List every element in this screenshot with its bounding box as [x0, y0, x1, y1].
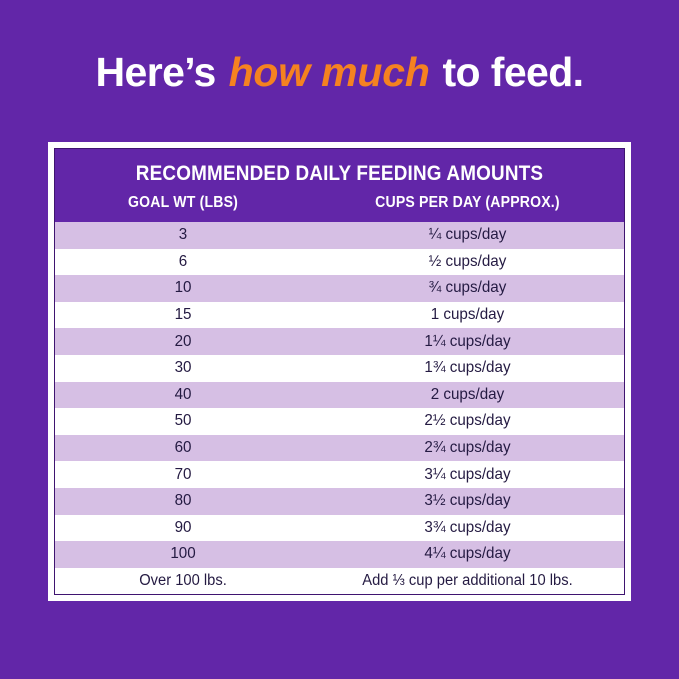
cell-goal-weight: 30 — [61, 358, 304, 378]
table-row: 70 3¼ cups/day — [55, 461, 624, 488]
table-row: 20 1¼ cups/day — [55, 328, 624, 355]
feeding-table: RECOMMENDED DAILY FEEDING AMOUNTS GOAL W… — [54, 148, 625, 595]
headline-part-one: Here’s — [96, 49, 227, 95]
cell-cups-per-day: 3¾ cups/day — [319, 518, 616, 538]
table-title: RECOMMENDED DAILY FEEDING AMOUNTS — [83, 161, 595, 187]
table-row: Over 100 lbs. Add ⅓ cup per additional 1… — [55, 568, 624, 595]
cell-goal-weight: 3 — [61, 225, 304, 245]
cell-goal-weight: 50 — [61, 411, 304, 431]
cell-goal-weight: 80 — [61, 491, 304, 511]
column-header-cups-per-day: CUPS PER DAY (APPROX.) — [330, 192, 605, 214]
cell-cups-per-day: 1¾ cups/day — [319, 358, 616, 378]
cell-goal-weight: 90 — [61, 518, 304, 538]
cell-goal-weight: 100 — [61, 544, 304, 564]
cell-cups-per-day: 4¼ cups/day — [319, 544, 616, 564]
cell-cups-per-day: 2 cups/day — [319, 385, 616, 405]
page-headline: Here’s how much to feed. — [0, 46, 679, 98]
table-row: 6 ½ cups/day — [55, 249, 624, 276]
cell-goal-weight: Over 100 lbs. — [61, 571, 304, 591]
column-headers: GOAL WT (LBS) CUPS PER DAY (APPROX.) — [55, 192, 624, 214]
cell-cups-per-day: Add ⅓ cup per additional 10 lbs. — [319, 571, 616, 591]
table-row: 60 2¾ cups/day — [55, 435, 624, 462]
cell-cups-per-day: ¾ cups/day — [319, 278, 616, 298]
column-header-goal-weight: GOAL WT (LBS) — [70, 192, 295, 214]
table-row: 15 1 cups/day — [55, 302, 624, 329]
cell-cups-per-day: ¼ cups/day — [319, 225, 616, 245]
cell-goal-weight: 60 — [61, 438, 304, 458]
table-body: 3 ¼ cups/day 6 ½ cups/day 10 ¾ cups/day … — [55, 222, 624, 594]
table-row: 40 2 cups/day — [55, 382, 624, 409]
cell-cups-per-day: ½ cups/day — [319, 252, 616, 272]
table-row: 80 3½ cups/day — [55, 488, 624, 515]
cell-goal-weight: 70 — [61, 465, 304, 485]
cell-goal-weight: 10 — [61, 278, 304, 298]
cell-cups-per-day: 1 cups/day — [319, 305, 616, 325]
cell-cups-per-day: 1¼ cups/day — [319, 332, 616, 352]
headline-part-two: to feed. — [432, 49, 584, 95]
cell-goal-weight: 15 — [61, 305, 304, 325]
headline-emphasis: how much — [227, 49, 432, 95]
cell-goal-weight: 6 — [61, 252, 304, 272]
table-row: 100 4¼ cups/day — [55, 541, 624, 568]
table-row: 50 2½ cups/day — [55, 408, 624, 435]
table-row: 3 ¼ cups/day — [55, 222, 624, 249]
cell-goal-weight: 40 — [61, 385, 304, 405]
cell-cups-per-day: 3¼ cups/day — [319, 465, 616, 485]
table-row: 10 ¾ cups/day — [55, 275, 624, 302]
table-header-band: RECOMMENDED DAILY FEEDING AMOUNTS GOAL W… — [55, 149, 624, 222]
feeding-table-frame: RECOMMENDED DAILY FEEDING AMOUNTS GOAL W… — [48, 142, 631, 601]
cell-cups-per-day: 3½ cups/day — [319, 491, 616, 511]
table-row: 90 3¾ cups/day — [55, 515, 624, 542]
cell-cups-per-day: 2¾ cups/day — [319, 438, 616, 458]
cell-cups-per-day: 2½ cups/day — [319, 411, 616, 431]
cell-goal-weight: 20 — [61, 332, 304, 352]
table-row: 30 1¾ cups/day — [55, 355, 624, 382]
feeding-chart-page: Here’s how much to feed. RECOMMENDED DAI… — [0, 0, 679, 679]
